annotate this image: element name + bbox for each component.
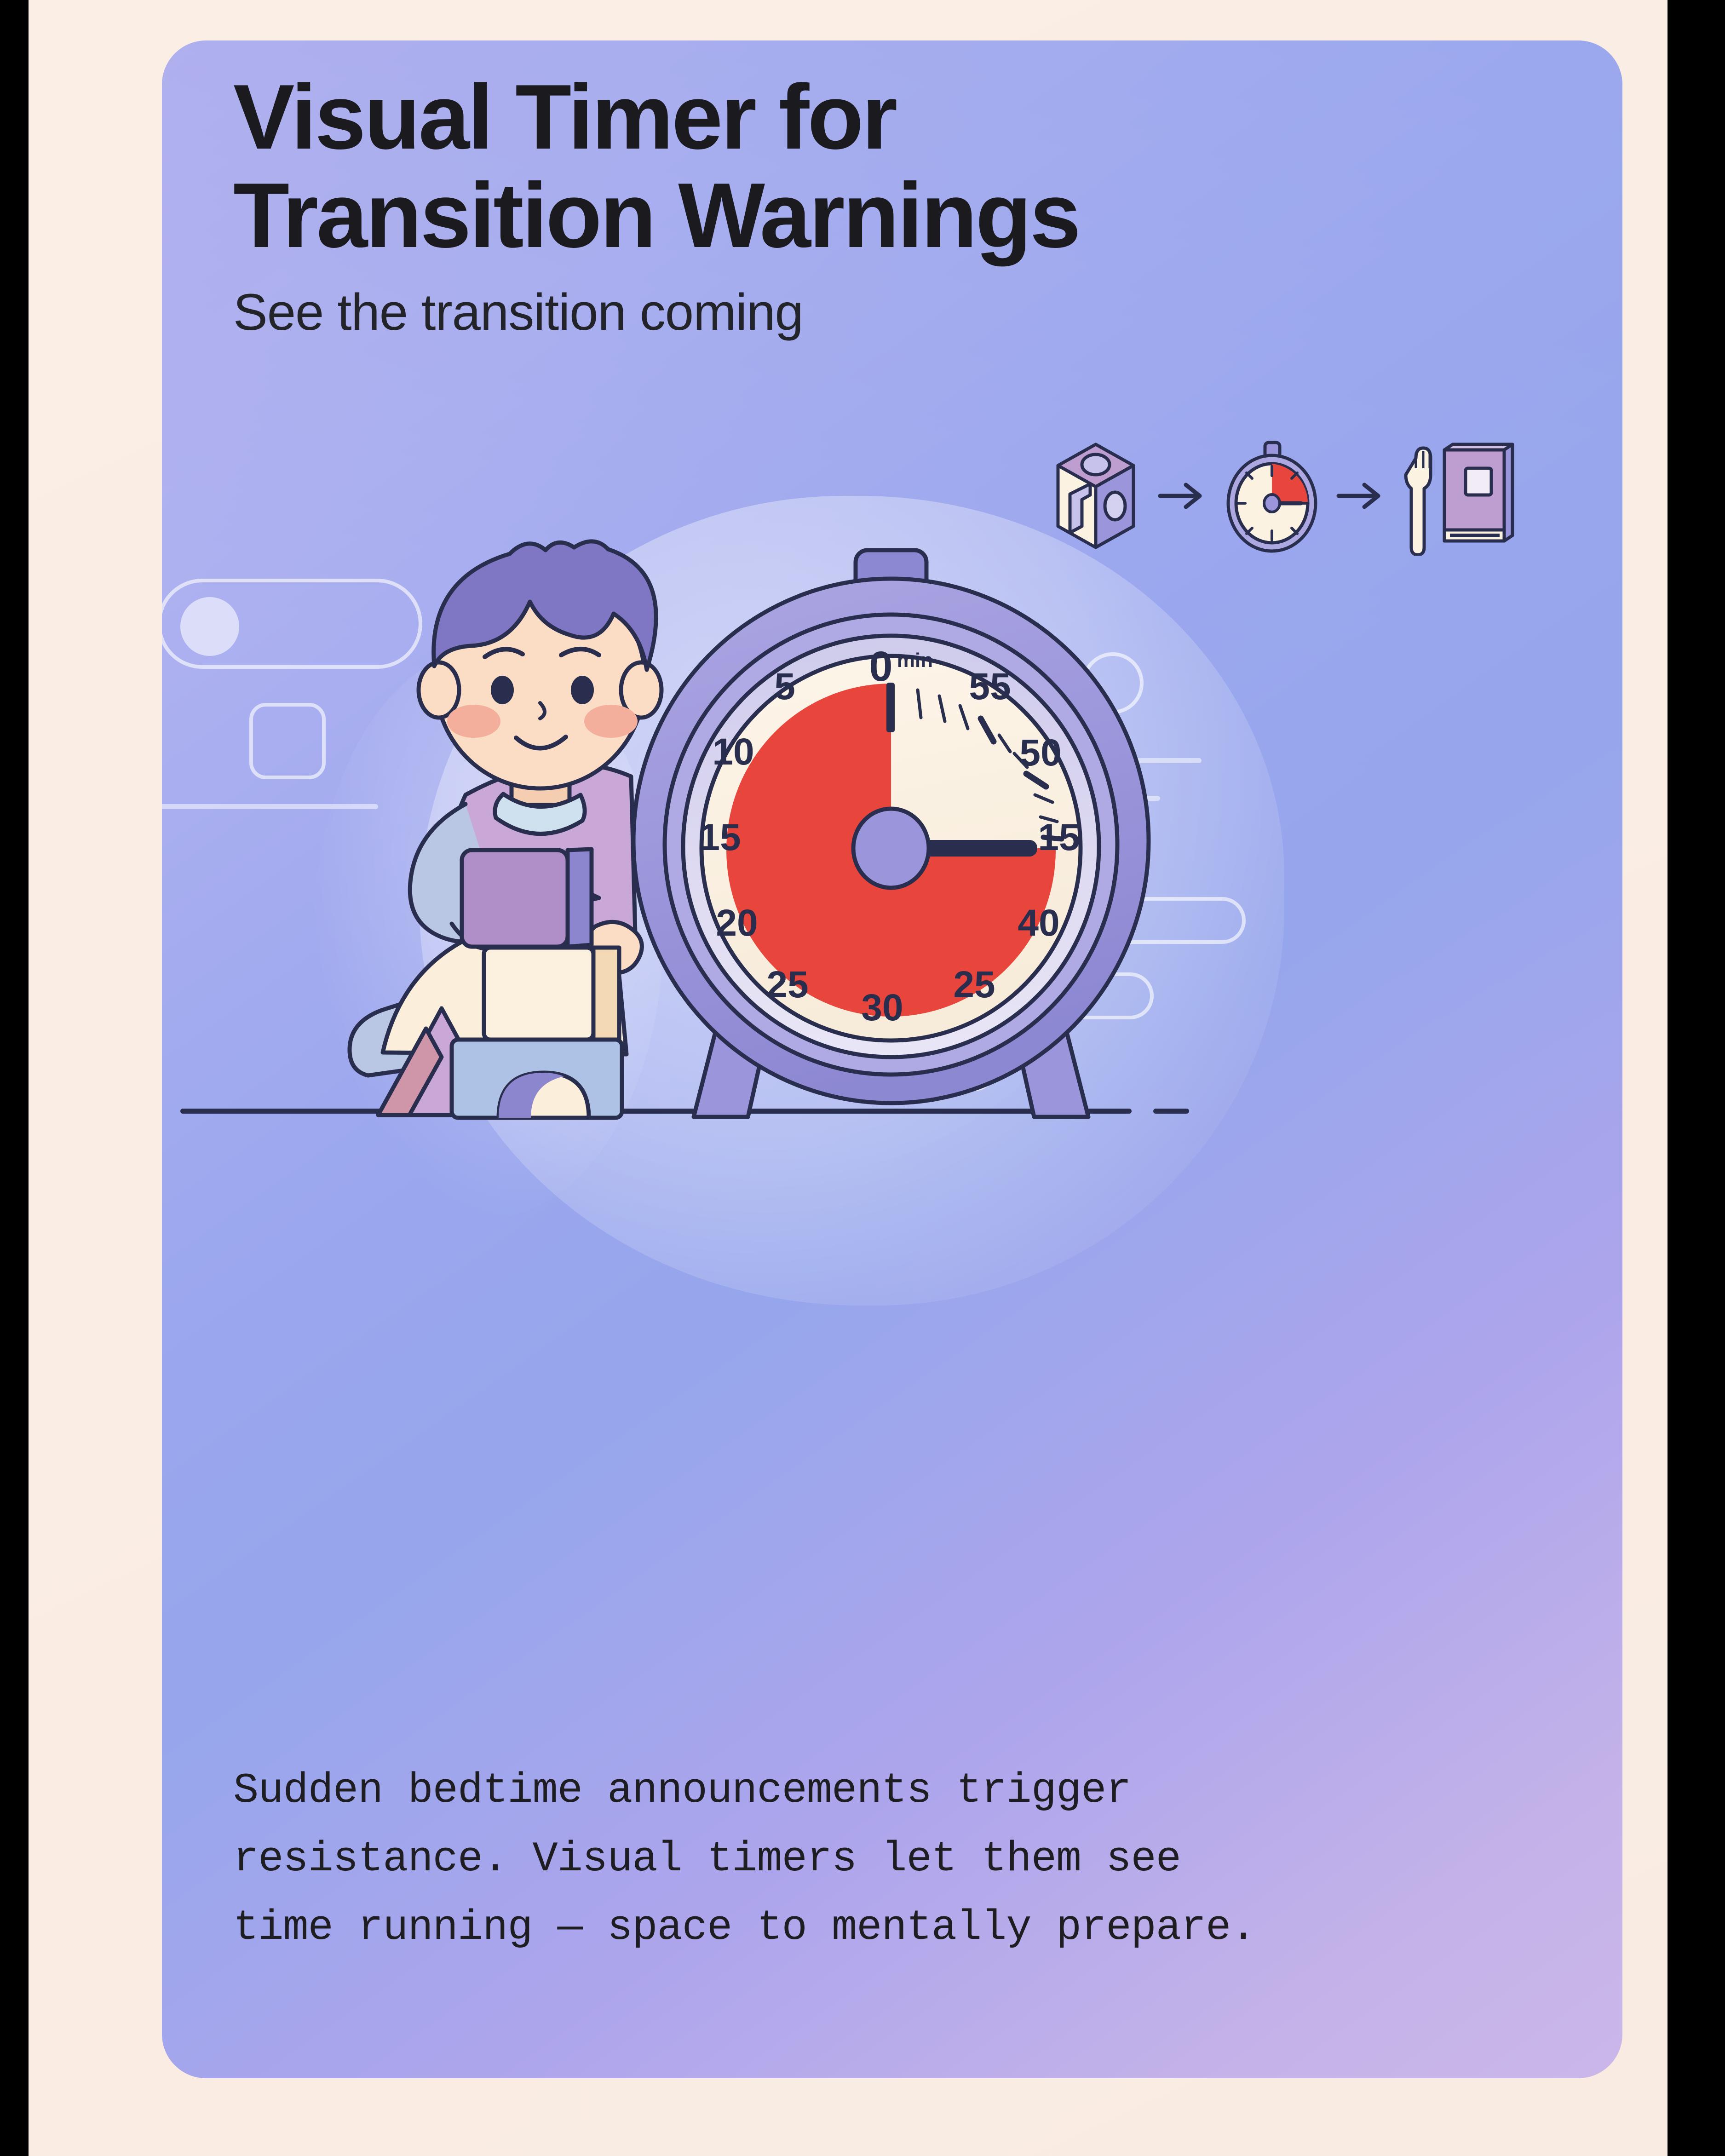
dial-num-20: 20 [716, 902, 758, 944]
child-cheek-left [447, 705, 500, 738]
heading-block: Visual Timer for Transition Warnings See… [233, 68, 1590, 342]
dial-num-25: 25 [766, 964, 808, 1006]
timer-start-tick [886, 683, 895, 732]
arrow-right-icon [1336, 477, 1386, 514]
dial-num-5: 5 [774, 666, 795, 707]
child-ear-left [419, 662, 459, 718]
dial-unit-min: min [897, 649, 933, 672]
page-background: Visual Timer for Transition Warnings See… [29, 0, 1667, 2156]
screenshot-stage: Visual Timer for Transition Warnings See… [0, 0, 1725, 2156]
page-title: Visual Timer for Transition Warnings [233, 68, 1590, 265]
block-purple [462, 850, 568, 947]
arrow-right-icon [1157, 477, 1208, 514]
toy-block-icon [1050, 436, 1142, 556]
dial-num-30: 30 [861, 987, 903, 1029]
child-eye-left [491, 676, 514, 704]
page-subtitle: See the transition coming [233, 282, 1590, 342]
dial-num-35: 25 [953, 964, 995, 1006]
dial-num-55: 55 [969, 666, 1011, 707]
visual-timer[interactable]: 0 min 5 10 15 20 25 30 55 50 15 40 25 [604, 537, 1179, 1126]
timer-hub [853, 809, 929, 888]
toothbrush-book-icon [1402, 436, 1517, 556]
block-cream [484, 948, 593, 1040]
body-line-1: Sudden bedtime announcements trigger [233, 1756, 1576, 1825]
body-copy: Sudden bedtime announcements trigger res… [233, 1756, 1576, 1962]
body-line-2: resistance. Visual timers let them see [233, 1825, 1576, 1893]
child-eye-right [571, 676, 594, 704]
body-line-3: time running — space to mentally prepare… [233, 1893, 1576, 1962]
illustration: 0 min 5 10 15 20 25 30 55 50 15 40 25 [162, 454, 1622, 1558]
routine-sequence [1050, 413, 1579, 579]
dial-num-50: 50 [1019, 732, 1061, 774]
clock-timer-icon [1224, 436, 1320, 556]
dial-num-15: 15 [699, 816, 741, 858]
poster-card: Visual Timer for Transition Warnings See… [162, 40, 1622, 2078]
dial-num-10: 10 [712, 731, 754, 773]
block-purple-side [568, 849, 592, 947]
dial-num-45: 15 [1038, 816, 1080, 858]
dial-num-0: 0 [869, 643, 892, 690]
deco-dot-left [180, 597, 239, 656]
dial-num-40: 40 [1018, 902, 1059, 944]
